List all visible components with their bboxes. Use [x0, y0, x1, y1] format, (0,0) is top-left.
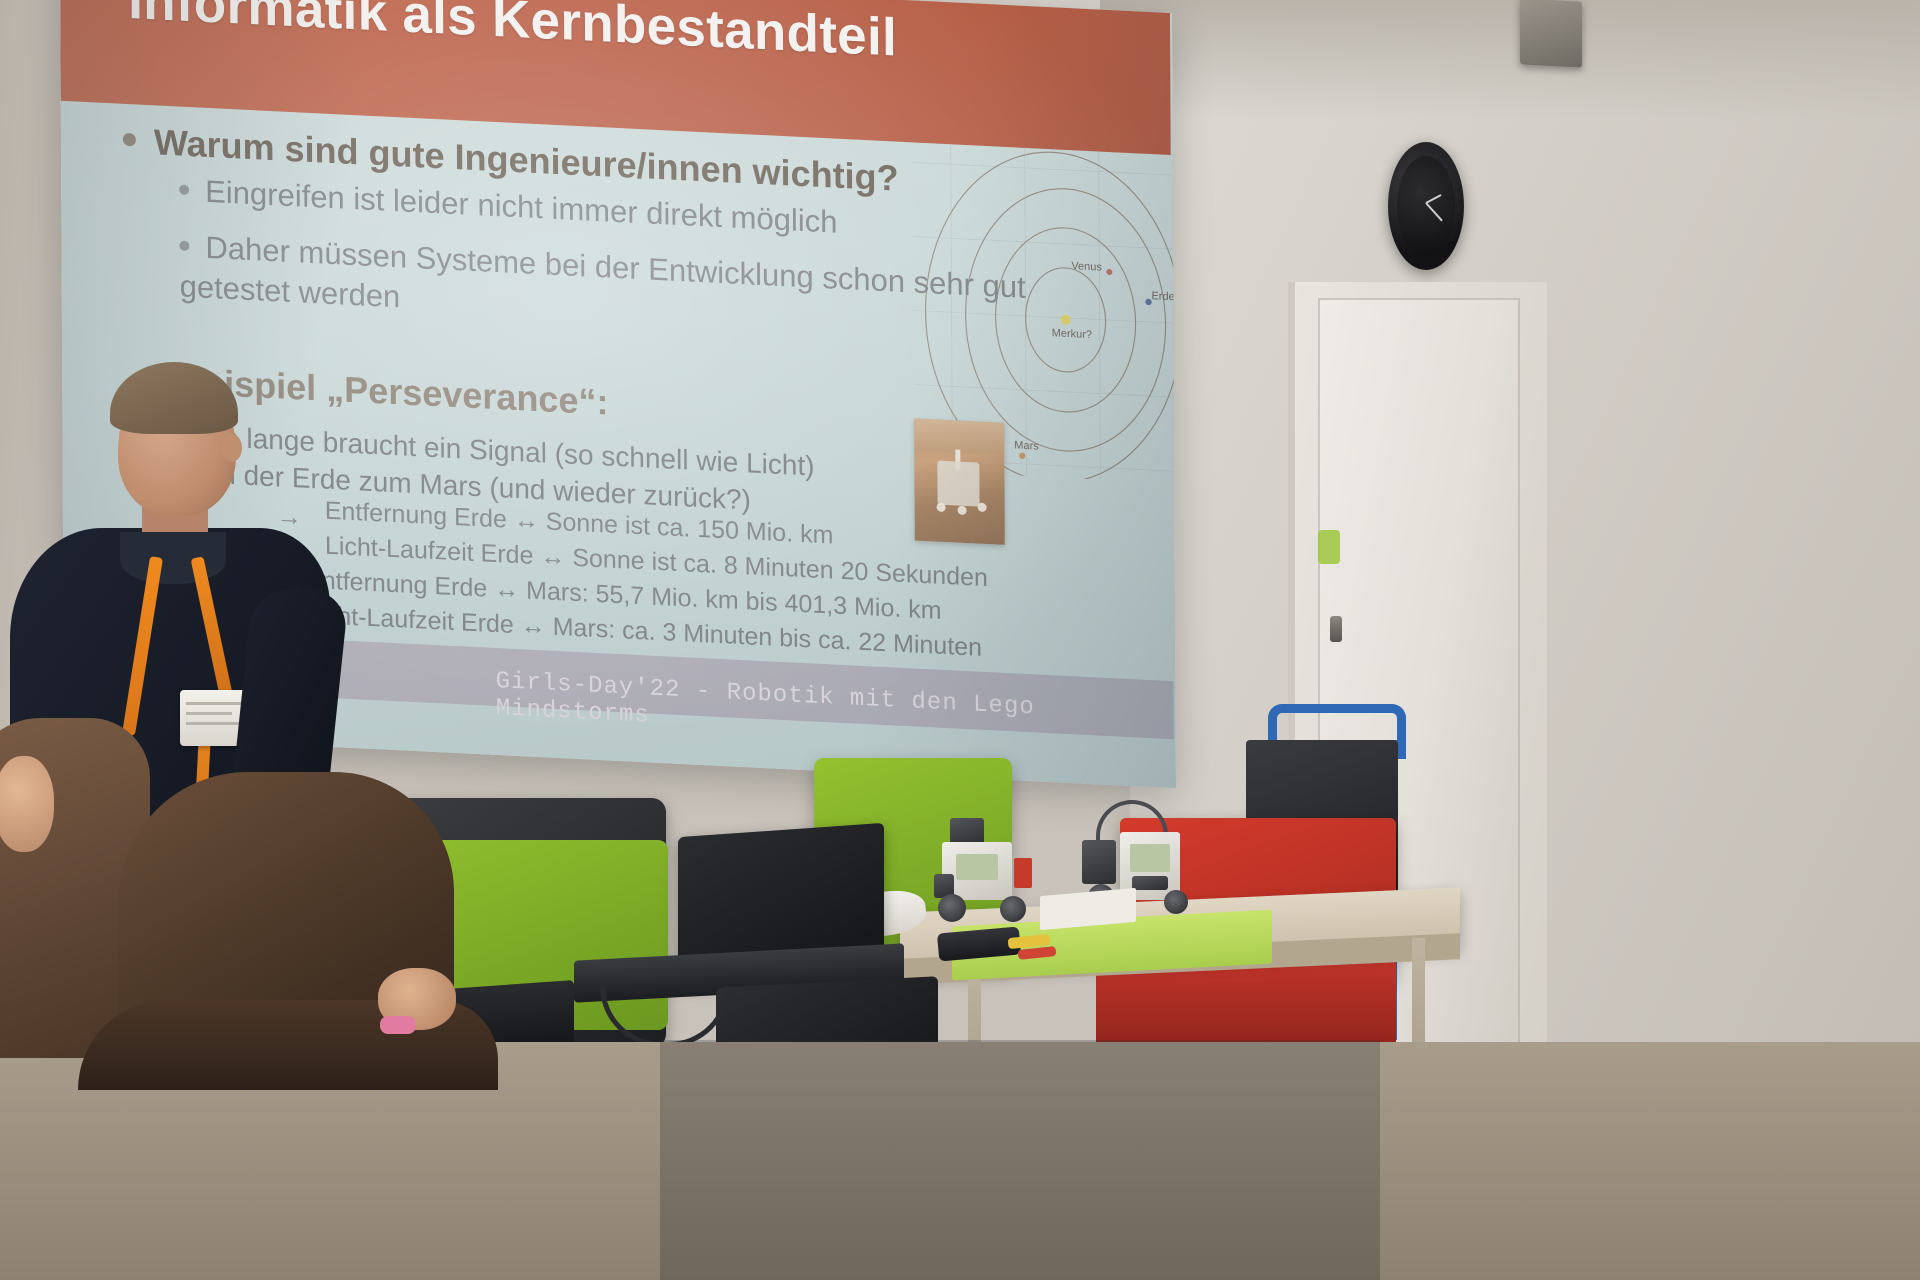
- orbit-label-mars: Mars: [1014, 439, 1039, 452]
- bullet-dot-icon: [179, 184, 189, 194]
- door-handle[interactable]: [1330, 616, 1342, 642]
- robot-buttons: [1132, 876, 1168, 890]
- bullet-dot-icon: [123, 133, 136, 147]
- bullet-dot-icon: [179, 240, 189, 250]
- rover-wheel: [936, 503, 945, 512]
- student-left-face: [0, 756, 54, 852]
- pink-hair-clip: [380, 1016, 416, 1034]
- robot-wheel: [1164, 890, 1188, 914]
- badge-line: [186, 712, 232, 715]
- clock-minute-hand: [1425, 202, 1443, 221]
- presenter-collar: [120, 532, 226, 584]
- wall-clock-icon: [1388, 142, 1464, 270]
- ceiling-shadow: [1100, 0, 1920, 120]
- door-sticker: [1318, 530, 1340, 564]
- lego-mindstorms-robot-1[interactable]: [934, 818, 1054, 928]
- robot-screen: [1130, 844, 1170, 872]
- classroom-scene: Informatik als Kernbestandteil: [0, 0, 1920, 1280]
- robot-wheel: [938, 894, 966, 922]
- rover-wheel: [958, 506, 967, 515]
- presenter-hair: [110, 362, 238, 434]
- ceiling-speaker-icon: [1520, 0, 1582, 68]
- orbit-label-venus: Venus: [1071, 260, 1102, 273]
- clock-hour-hand: [1426, 194, 1442, 204]
- badge-line: [186, 722, 240, 725]
- robot-wheel: [1000, 896, 1026, 922]
- rover-body: [938, 461, 980, 507]
- robot-red-part: [1014, 858, 1032, 888]
- floor-shadow: [660, 1040, 1380, 1280]
- robot-sensor: [950, 818, 984, 844]
- orbit-label-erde: Erde: [1151, 290, 1174, 303]
- clock-face: [1397, 156, 1455, 256]
- presenter-ear: [222, 434, 242, 462]
- red-crate-lower[interactable]: [1096, 962, 1396, 1052]
- rover-wheel: [978, 502, 987, 511]
- robot-screen: [956, 854, 998, 880]
- robot-motor: [1082, 840, 1116, 884]
